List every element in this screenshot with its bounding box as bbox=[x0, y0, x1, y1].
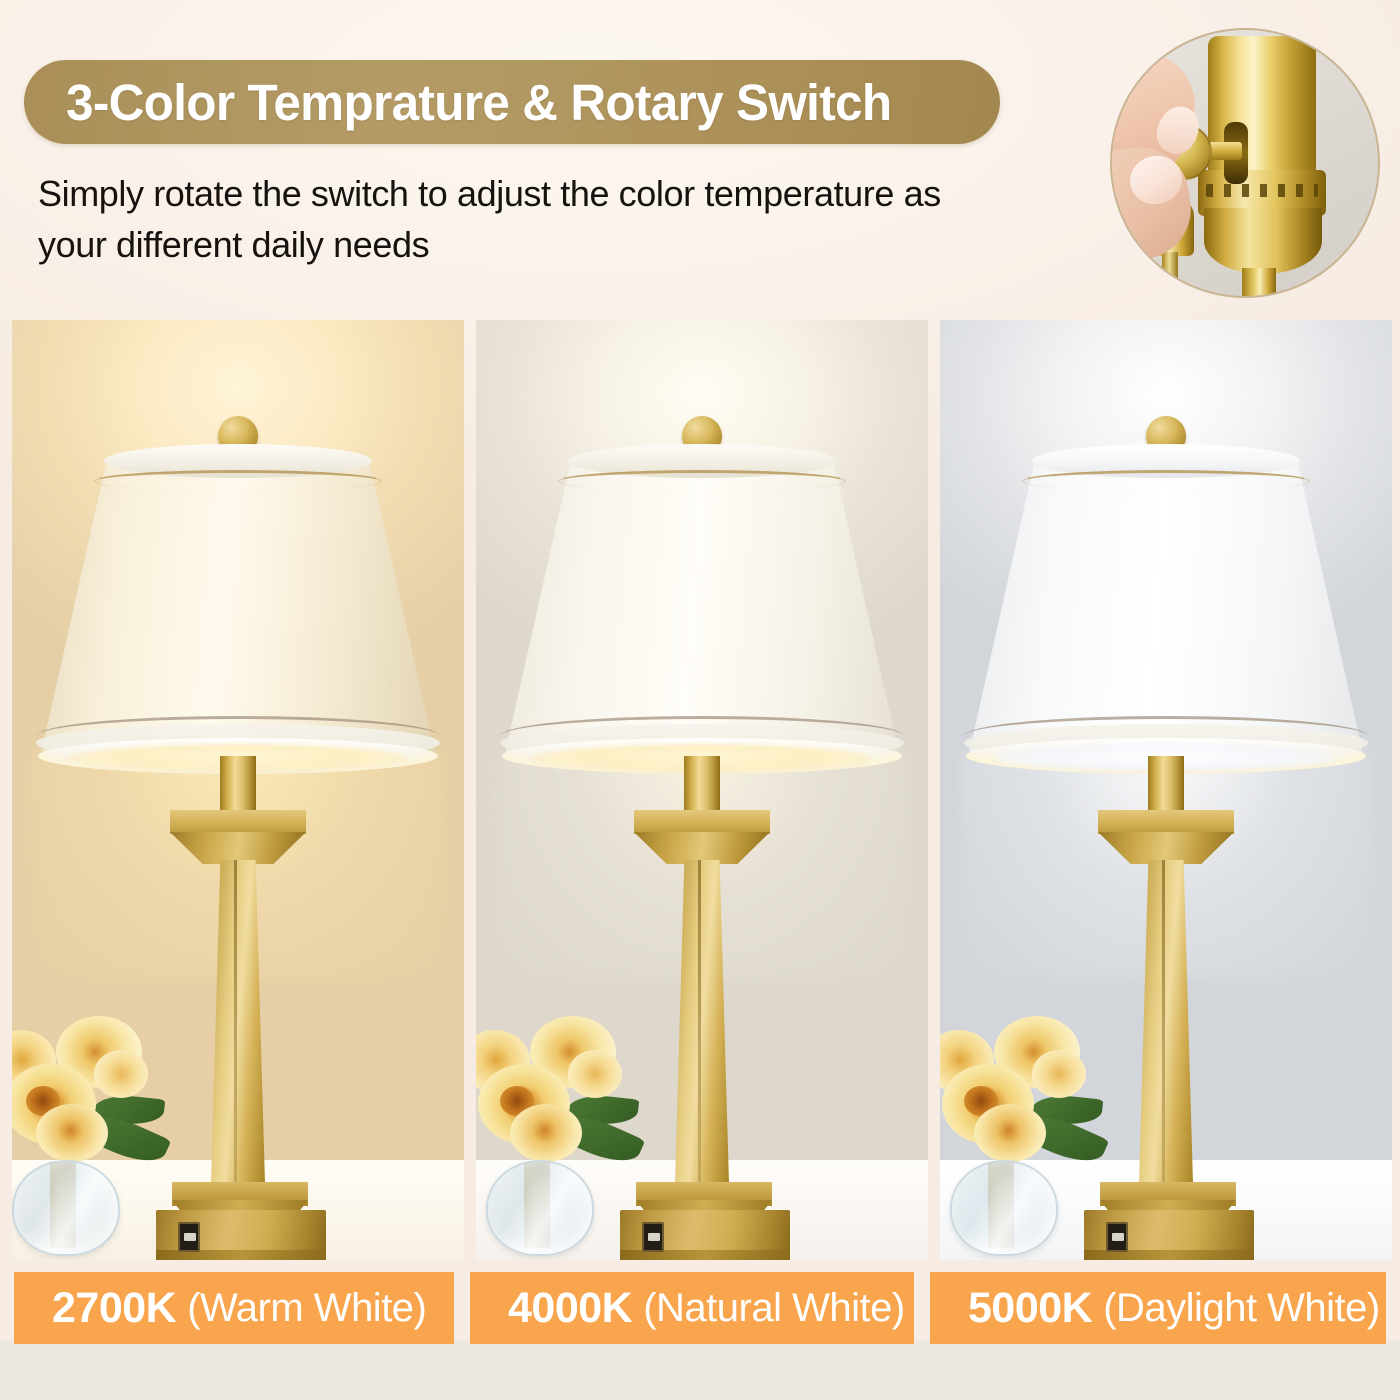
glass-vase bbox=[950, 1160, 1058, 1256]
flower bbox=[1032, 1050, 1086, 1098]
kelvin-value: 5000K bbox=[968, 1284, 1092, 1333]
flower bbox=[510, 1104, 582, 1162]
kelvin-name: (Daylight White) bbox=[1103, 1286, 1380, 1331]
glass-vase bbox=[12, 1160, 120, 1256]
lamp-comparison-gallery bbox=[0, 320, 1400, 1260]
shade-gold-trim-top bbox=[1022, 470, 1310, 492]
lamp-capital-top bbox=[1098, 810, 1234, 834]
lamp-capital-flare bbox=[170, 832, 306, 864]
lamp-neck bbox=[1148, 756, 1184, 816]
shade-gold-trim-top bbox=[94, 470, 382, 492]
lamp-column bbox=[198, 860, 278, 1190]
flower bbox=[94, 1050, 148, 1098]
page-background-footer bbox=[0, 1340, 1400, 1400]
lamp-capital-flare bbox=[1098, 832, 1234, 864]
flower bbox=[36, 1104, 108, 1162]
color-temperature-labels: 2700K (Warm White) 4000K (Natural White)… bbox=[0, 1272, 1400, 1344]
kelvin-name: (Warm White) bbox=[187, 1286, 426, 1331]
lamp-column bbox=[1126, 860, 1206, 1190]
label-warm-white: 2700K (Warm White) bbox=[14, 1272, 454, 1344]
kelvin-value: 2700K bbox=[52, 1284, 176, 1333]
lamp-neck bbox=[220, 756, 256, 816]
page-title: 3-Color Temprature & Rotary Switch bbox=[66, 73, 891, 132]
header: 3-Color Temprature & Rotary Switch Simpl… bbox=[0, 0, 1400, 318]
lamp-capital-top bbox=[634, 810, 770, 834]
flower bbox=[974, 1104, 1046, 1162]
label-natural-white: 4000K (Natural White) bbox=[470, 1272, 914, 1344]
subtitle-text: Simply rotate the switch to adjust the c… bbox=[38, 168, 988, 270]
flower bbox=[568, 1050, 622, 1098]
lamp-capital-top bbox=[170, 810, 306, 834]
lamp-capital-flare bbox=[634, 832, 770, 864]
lamp-shade bbox=[968, 458, 1364, 758]
lamp-column-edge bbox=[1162, 860, 1165, 1190]
rotary-switch-closeup-image bbox=[1110, 28, 1380, 298]
kelvin-name: (Natural White) bbox=[643, 1286, 904, 1331]
usb-port-icon bbox=[178, 1222, 200, 1252]
socket-stem-icon bbox=[1242, 268, 1276, 298]
lamp-neck bbox=[684, 756, 720, 816]
shade-gold-trim-top bbox=[558, 470, 846, 492]
lamp-shade bbox=[40, 458, 436, 758]
flower-vase-decor bbox=[12, 1010, 178, 1260]
socket-base-icon bbox=[1204, 208, 1322, 274]
flower-vase-decor bbox=[940, 1010, 1116, 1260]
switch-part-tip-icon bbox=[1162, 252, 1178, 284]
lamp-photo-daylight-white bbox=[940, 320, 1392, 1260]
label-daylight-white: 5000K (Daylight White) bbox=[930, 1272, 1386, 1344]
flower-vase-decor bbox=[476, 1010, 652, 1260]
glass-vase bbox=[486, 1160, 594, 1256]
lamp-column-edge bbox=[234, 860, 237, 1190]
lamp-column bbox=[662, 860, 742, 1190]
switch-shaft-icon bbox=[1208, 142, 1242, 160]
kelvin-value: 4000K bbox=[508, 1284, 632, 1333]
closeup-scene bbox=[1112, 30, 1378, 296]
lamp-photo-warm-white bbox=[12, 320, 464, 1260]
title-banner: 3-Color Temprature & Rotary Switch bbox=[24, 60, 1000, 144]
lamp-column-edge bbox=[698, 860, 701, 1190]
lamp-photo-natural-white bbox=[476, 320, 928, 1260]
lamp-shade bbox=[504, 458, 900, 758]
